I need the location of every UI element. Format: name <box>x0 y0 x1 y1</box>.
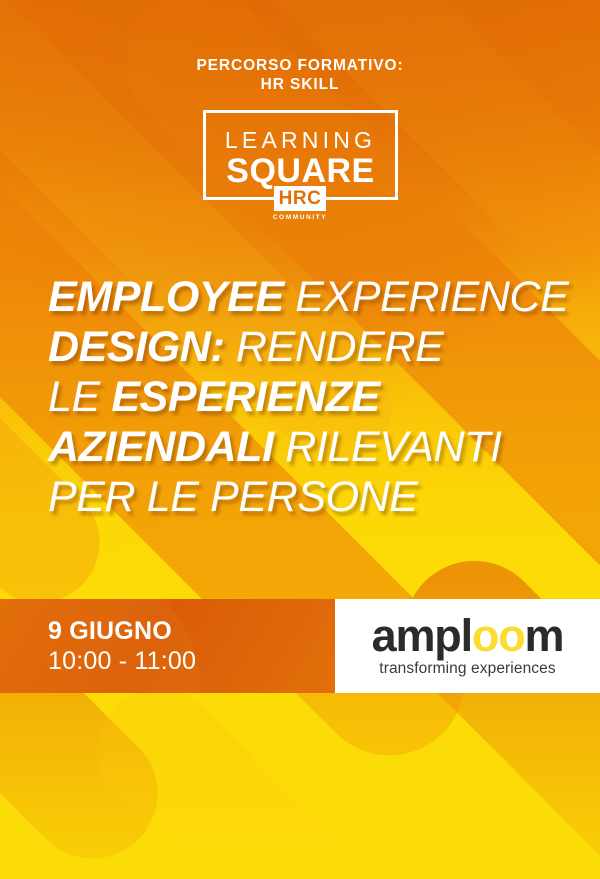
sponsor-logo: amploom transforming experiences <box>335 614 600 678</box>
kicker-text: PERCORSO FORMATIVO: HR SKILL <box>0 56 600 94</box>
title-line-3: LE ESPERIENZE <box>48 372 570 422</box>
kicker-line-1: PERCORSO FORMATIVO: <box>196 57 403 74</box>
title-line-5-regular: PER LE PERSONE <box>48 473 418 521</box>
title-line-4-bold: AZIENDALI <box>48 423 274 471</box>
title-line-2-bold: DESIGN: <box>48 323 224 371</box>
hrc-community-subtitle: COMMUNITY <box>273 214 327 222</box>
title-line-3-regular: LE <box>48 373 111 421</box>
learning-square-word-square: SQUARE <box>206 153 395 189</box>
title-line-4: AZIENDALI RILEVANTI <box>48 422 570 472</box>
sponsor-wordmark-part1: amp <box>372 610 461 661</box>
title-line-1-bold: EMPLOYEE <box>48 273 284 321</box>
title-line-1: EMPLOYEE EXPERIENCE <box>48 272 570 322</box>
learning-square-word-learning: LEARNING <box>206 128 395 152</box>
sponsor-logo-panel: amploom transforming experiences <box>335 599 600 693</box>
poster-root: PERCORSO FORMATIVO: HR SKILL LEARNING SQ… <box>0 0 600 879</box>
sponsor-wordmark-part3: m <box>525 610 564 661</box>
page-title: EMPLOYEE EXPERIENCE DESIGN: RENDERE LE E… <box>48 272 570 522</box>
sponsor-wordmark-accent: oo <box>472 610 525 661</box>
event-date-text-group: 9 GIUGNO 10:00 - 11:00 <box>48 617 196 676</box>
kicker-line-2: HR SKILL <box>0 75 600 94</box>
hrc-badge-text: HRC <box>274 186 327 211</box>
title-line-2-regular: RENDERE <box>224 323 443 371</box>
event-date: 9 GIUGNO <box>48 617 196 646</box>
sponsor-tagline: transforming experiences <box>335 660 600 678</box>
hrc-community-logo: HRC COMMUNITY <box>0 186 600 222</box>
title-line-3-bold: ESPERIENZE <box>111 373 379 421</box>
title-line-2: DESIGN: RENDERE <box>48 322 570 372</box>
title-line-5: PER LE PERSONE <box>48 472 570 522</box>
sponsor-wordmark-part2: l <box>461 610 472 661</box>
sponsor-wordmark: amploom <box>335 614 600 658</box>
event-date-bar: 9 GIUGNO 10:00 - 11:00 <box>0 599 335 693</box>
event-time: 10:00 - 11:00 <box>48 646 196 676</box>
title-line-1-regular: EXPERIENCE <box>284 273 569 321</box>
title-line-4-regular: RILEVANTI <box>274 423 502 471</box>
